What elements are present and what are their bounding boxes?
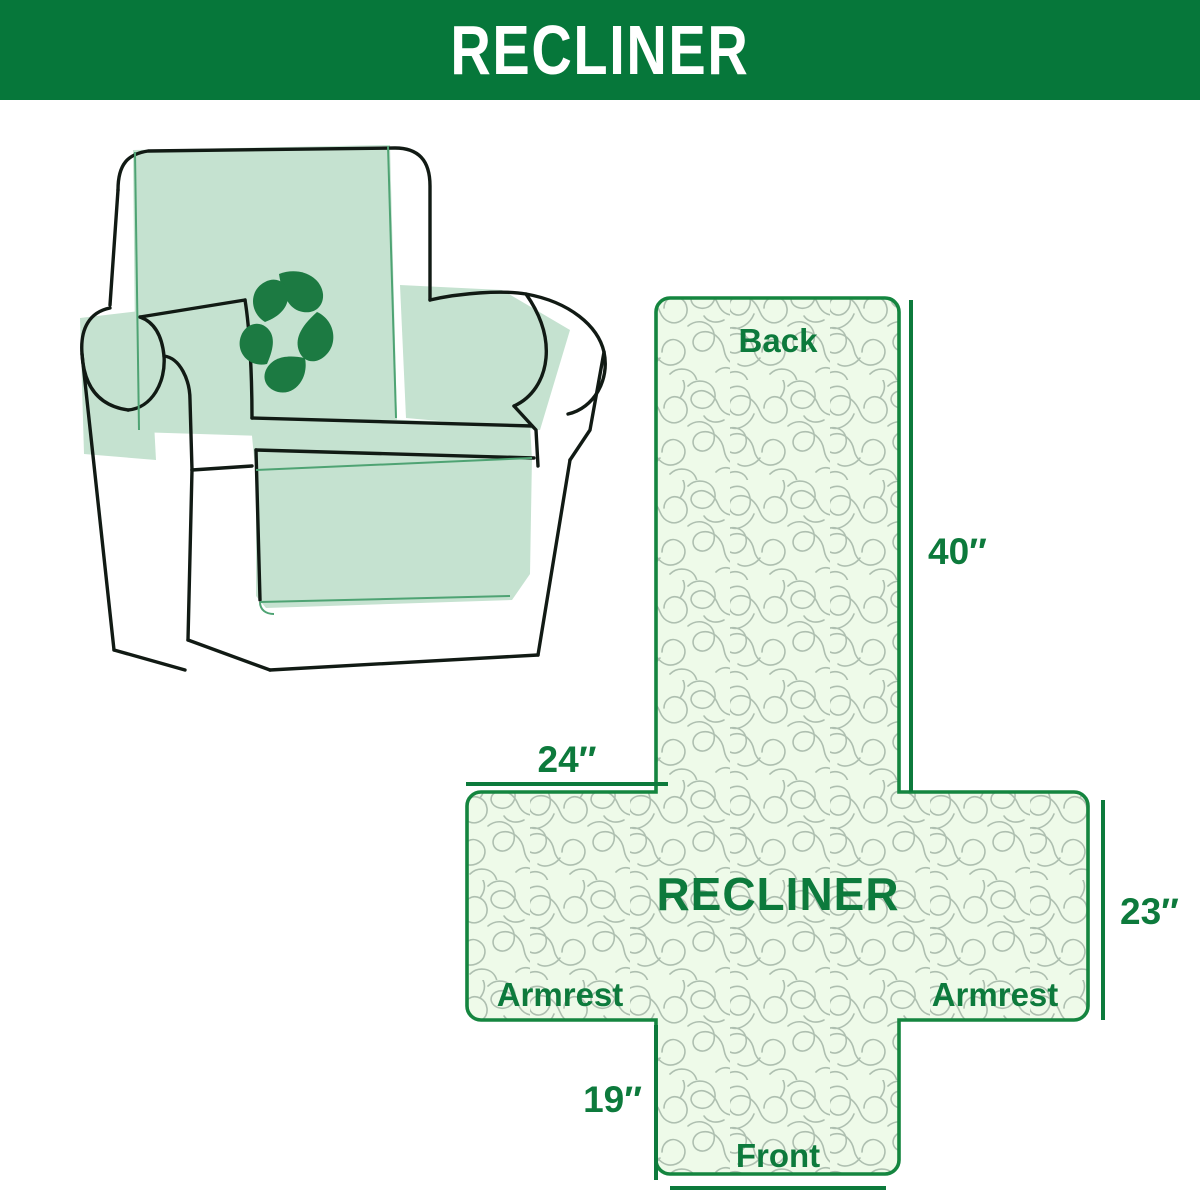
- dimension-seat-depth: 23″: [1120, 891, 1179, 932]
- label-center-recliner: RECLINER: [656, 868, 899, 920]
- dimension-front-height: 19″: [583, 1079, 642, 1120]
- dimension-front-width: 24″: [749, 1195, 808, 1200]
- page-title: RECLINER: [450, 15, 749, 85]
- label-armrest-right: Armrest: [932, 976, 1059, 1013]
- label-front: Front: [736, 1137, 820, 1174]
- dimension-back-width: 24″: [538, 739, 597, 780]
- label-armrest-left: Armrest: [497, 976, 624, 1013]
- dimension-back-height: 40″: [928, 531, 987, 572]
- cover-cross-shape: [467, 298, 1088, 1174]
- header-banner: RECLINER: [0, 0, 1200, 100]
- label-back: Back: [739, 322, 819, 359]
- cover-pattern-diagram: Back RECLINER Armrest Armrest Front 40″: [430, 280, 1200, 1160]
- diagram-canvas: Back RECLINER Armrest Armrest Front 40″: [0, 100, 1200, 1200]
